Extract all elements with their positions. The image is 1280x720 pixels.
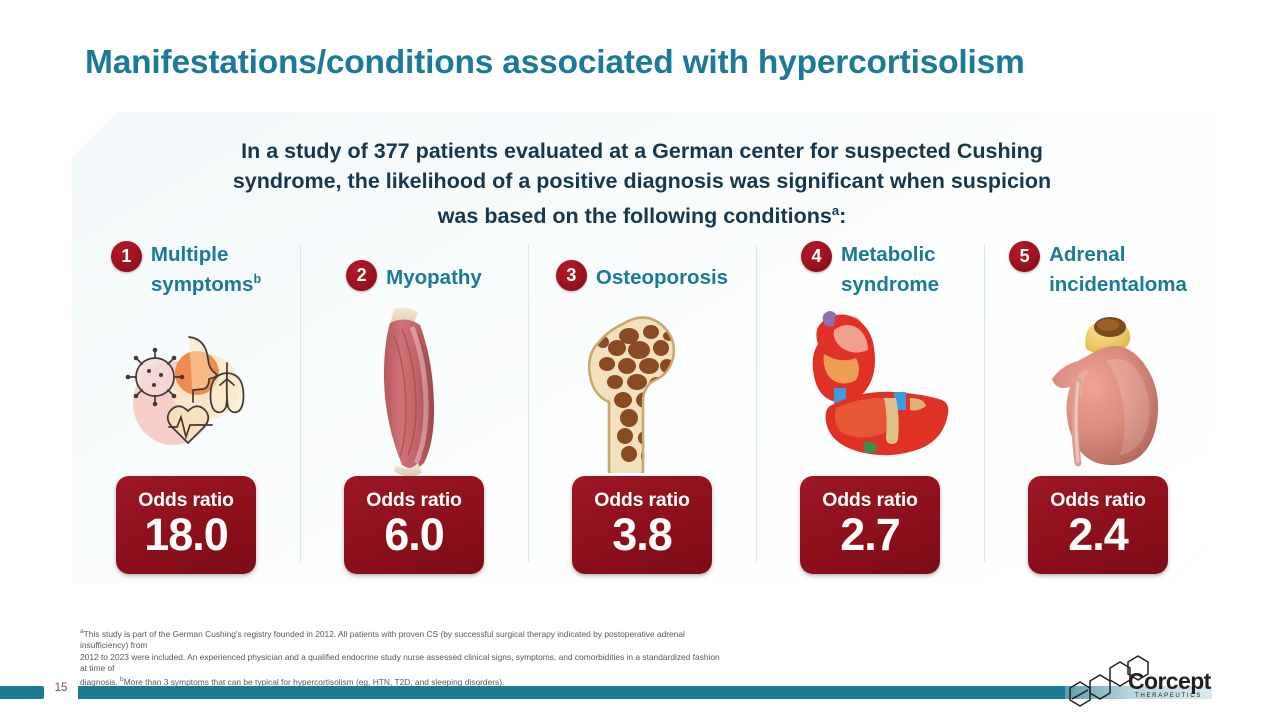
condition-label-text: Metabolic syndrome — [841, 243, 939, 296]
footnote-a-line1: This study is part of the German Cushing… — [80, 629, 685, 650]
condition-label-superscript: b — [253, 272, 261, 286]
odds-ratio-value: 6.0 — [384, 511, 444, 558]
bone-icon — [528, 300, 756, 480]
condition-label: Metabolic syndrome — [841, 240, 939, 297]
odds-ratio-value: 2.4 — [1068, 511, 1128, 558]
logo-wordmark: Corcept — [1128, 668, 1211, 695]
odds-ratio-label: Odds ratio — [594, 489, 690, 511]
heart-liver-icon — [756, 300, 984, 480]
condition-column-myopathy: 2 Myopathy — [300, 240, 528, 584]
lede-text: In a study of 377 patients evaluated at … — [212, 136, 1072, 231]
odds-ratio-card: Odds ratio 3.8 — [572, 476, 712, 574]
slide: Manifestations/conditions associated wit… — [0, 0, 1280, 720]
footnote-a: aThis study is part of the German Cushin… — [80, 626, 720, 652]
logo-tagline: THERAPEUTICS — [1135, 692, 1202, 699]
footnote-a-line2: 2012 to 2023 were included. An experienc… — [80, 652, 720, 675]
odds-ratio-card: Odds ratio 18.0 — [116, 476, 256, 574]
odds-ratio-card: Odds ratio 2.4 — [1028, 476, 1168, 574]
condition-label: Adrenal incidentaloma — [1049, 240, 1187, 297]
condition-column-adrenal-incidentaloma: 5 Adrenal incidentaloma — [984, 240, 1212, 584]
odds-ratio-card: Odds ratio 6.0 — [344, 476, 484, 574]
odds-ratio-label: Odds ratio — [1050, 489, 1146, 511]
odds-ratio-label: Odds ratio — [366, 489, 462, 511]
condition-label: Osteoporosis — [596, 260, 728, 290]
condition-number-badge: 5 — [1009, 241, 1040, 272]
condition-number-badge: 1 — [111, 241, 142, 272]
condition-column-metabolic-syndrome: 4 Metabolic syndrome — [756, 240, 984, 584]
multiple-symptoms-icon — [72, 300, 300, 480]
odds-ratio-value: 18.0 — [144, 511, 228, 558]
condition-label-text: Multiple symptoms — [151, 243, 254, 296]
condition-label-text: Adrenal incidentaloma — [1049, 243, 1187, 296]
kidney-adrenal-icon — [984, 300, 1212, 480]
content-panel: In a study of 377 patients evaluated at … — [72, 112, 1212, 584]
condition-number-badge: 2 — [346, 260, 377, 291]
condition-column-multiple-symptoms: 1 Multiple symptomsb — [72, 240, 300, 584]
conditions-row: 1 Multiple symptomsb — [72, 240, 1212, 584]
page-number: 15 — [48, 682, 74, 694]
lede-line-2: syndrome, the likelihood of a positive d… — [233, 169, 1051, 193]
condition-number-badge: 3 — [556, 260, 587, 291]
lede-line-3: was based on the following conditions — [438, 204, 832, 228]
condition-label: Myopathy — [386, 260, 482, 290]
condition-label-text: Osteoporosis — [596, 266, 728, 289]
odds-ratio-value: 3.8 — [612, 511, 672, 558]
page-title: Manifestations/conditions associated wit… — [85, 44, 1025, 82]
footer-bar-right — [78, 686, 1065, 699]
condition-column-osteoporosis: 3 Osteoporosis — [528, 240, 756, 584]
odds-ratio-value: 2.7 — [840, 511, 900, 558]
lede-line-1: In a study of 377 patients evaluated at … — [241, 139, 1043, 163]
condition-label-text: Myopathy — [386, 266, 482, 289]
condition-number-badge: 4 — [801, 241, 832, 272]
odds-ratio-label: Odds ratio — [822, 489, 918, 511]
footer-bar-left — [0, 686, 44, 699]
odds-ratio-card: Odds ratio 2.7 — [800, 476, 940, 574]
muscle-icon — [300, 300, 528, 480]
condition-label: Multiple symptomsb — [151, 240, 261, 297]
lede-colon: : — [839, 204, 846, 228]
odds-ratio-label: Odds ratio — [138, 489, 234, 511]
